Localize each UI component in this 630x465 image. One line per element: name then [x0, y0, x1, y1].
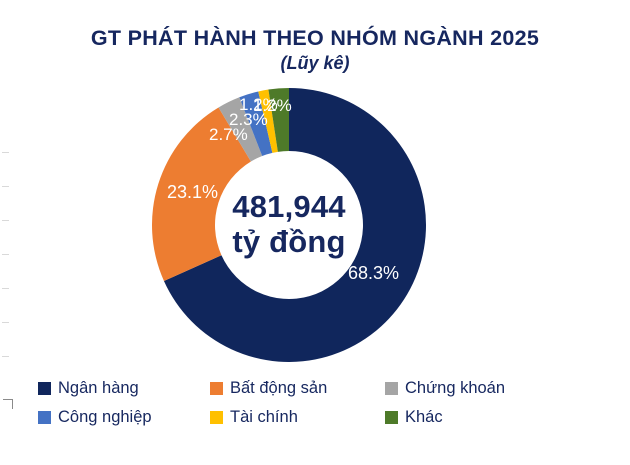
legend-item-ngan-hang[interactable]: Ngân hàng	[38, 380, 210, 397]
corner-crop-mark	[3, 399, 13, 409]
slice-label-bat-dong-san: 23.1%	[167, 182, 218, 203]
donut-chart: 481,944 tỷ đồng	[152, 88, 426, 362]
legend-swatch-icon	[38, 382, 51, 395]
chart-legend: Ngân hàng Bất động sản Chứng khoán Công …	[38, 374, 598, 432]
donut-svg	[152, 88, 426, 362]
legend-item-cong-nghiep[interactable]: Công nghiệp	[38, 409, 210, 426]
legend-label: Công nghiệp	[58, 409, 152, 426]
edge-tick	[2, 254, 9, 255]
legend-item-tai-chinh[interactable]: Tài chính	[210, 409, 385, 426]
legend-swatch-icon	[385, 382, 398, 395]
chart-title: GT PHÁT HÀNH THEO NHÓM NGÀNH 2025	[0, 26, 630, 51]
title-block: GT PHÁT HÀNH THEO NHÓM NGÀNH 2025 (Lũy k…	[0, 26, 630, 74]
edge-tick	[2, 288, 9, 289]
legend-item-chung-khoan[interactable]: Chứng khoán	[385, 380, 560, 397]
legend-swatch-icon	[210, 382, 223, 395]
legend-item-bat-dong-san[interactable]: Bất động sản	[210, 380, 385, 397]
legend-swatch-icon	[385, 411, 398, 424]
edge-tick	[2, 152, 9, 153]
edge-tick	[2, 186, 9, 187]
legend-label: Chứng khoán	[405, 380, 505, 397]
chart-subtitle: (Lũy kê)	[0, 53, 630, 75]
donut-slices	[152, 88, 426, 362]
edge-tick	[2, 356, 9, 357]
legend-label: Tài chính	[230, 409, 298, 426]
legend-swatch-icon	[210, 411, 223, 424]
edge-tick	[2, 322, 9, 323]
edge-tick	[2, 220, 9, 221]
slice-label-khac: 1.2%	[253, 96, 292, 116]
legend-item-khac[interactable]: Khác	[385, 409, 560, 426]
legend-label: Ngân hàng	[58, 380, 139, 397]
slice-label-ngan-hang: 68.3%	[348, 263, 399, 284]
legend-label: Khác	[405, 409, 443, 426]
legend-label: Bất động sản	[230, 380, 327, 397]
legend-swatch-icon	[38, 411, 51, 424]
